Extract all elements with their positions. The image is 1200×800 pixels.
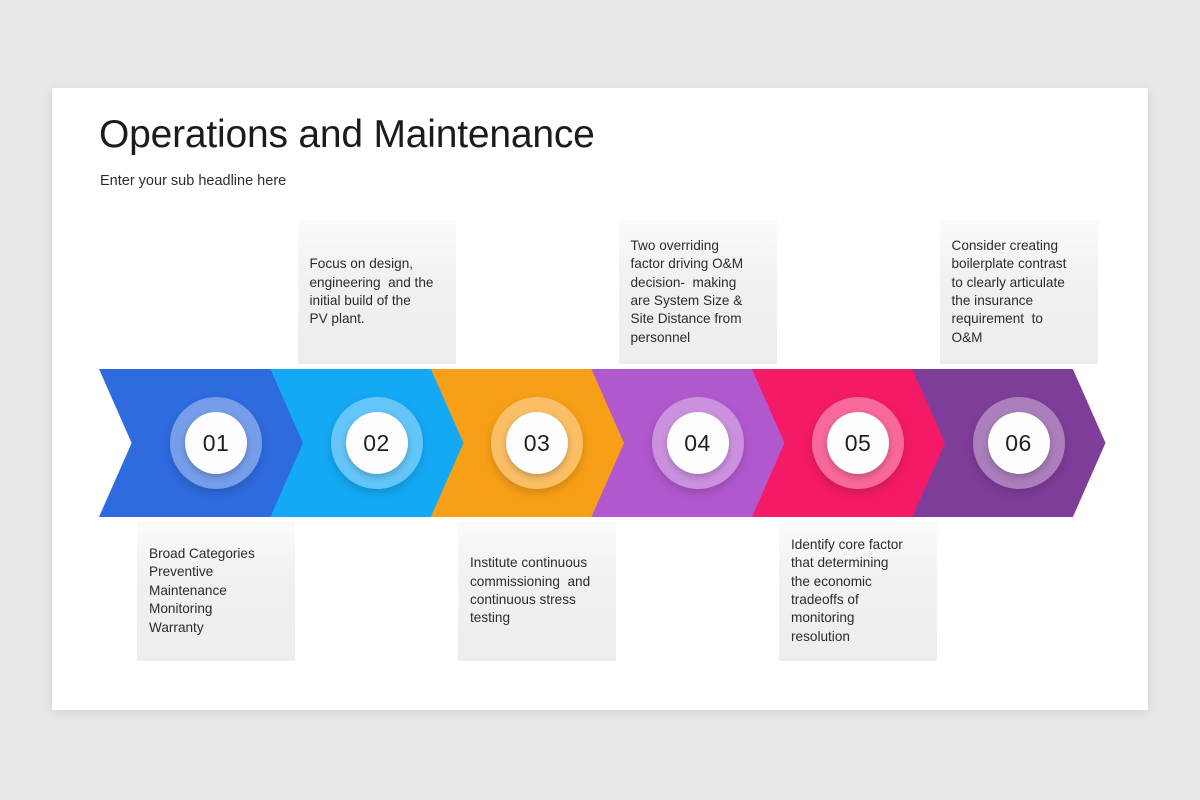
note-line: engineering and the bbox=[310, 274, 444, 292]
note-line: to clearly articulate bbox=[952, 274, 1086, 292]
step-number-badge-04[interactable]: 04 bbox=[652, 397, 744, 489]
note-line: Warranty bbox=[149, 619, 283, 637]
note-line: decision- making bbox=[631, 274, 765, 292]
note-line: testing bbox=[470, 609, 604, 627]
note-line: Identify core factor bbox=[791, 536, 925, 554]
step-number-badge-02[interactable]: 02 bbox=[331, 397, 423, 489]
note-line: Preventive bbox=[149, 563, 283, 581]
note-line: tradeoffs of bbox=[791, 591, 925, 609]
note-line: resolution bbox=[791, 628, 925, 646]
note-line: Focus on design, bbox=[310, 255, 444, 273]
step-note-01[interactable]: Broad CategoriesPreventiveMaintenanceMon… bbox=[137, 521, 295, 661]
step-note-03[interactable]: Institute continuouscommissioning andcon… bbox=[458, 521, 616, 661]
note-line: Institute continuous bbox=[470, 554, 604, 572]
process-chevron-band: 010203040506 bbox=[52, 369, 1148, 519]
note-line: initial build of the bbox=[310, 292, 444, 310]
note-line: requirement to bbox=[952, 310, 1086, 328]
step-note-02[interactable]: Focus on design,engineering and theiniti… bbox=[298, 220, 456, 364]
step-note-05[interactable]: Identify core factorthat determiningthe … bbox=[779, 521, 937, 661]
step-number-label: 01 bbox=[185, 412, 247, 474]
note-line: personnel bbox=[631, 329, 765, 347]
note-line: factor driving O&M bbox=[631, 255, 765, 273]
step-number-label: 05 bbox=[827, 412, 889, 474]
note-line: Monitoring bbox=[149, 600, 283, 618]
note-line: monitoring bbox=[791, 609, 925, 627]
note-line: commissioning and bbox=[470, 573, 604, 591]
note-line: Broad Categories bbox=[149, 545, 283, 563]
step-number-label: 06 bbox=[988, 412, 1050, 474]
note-line: continuous stress bbox=[470, 591, 604, 609]
step-note-04[interactable]: Two overridingfactor driving O&Mdecision… bbox=[619, 220, 777, 364]
step-number-badge-05[interactable]: 05 bbox=[812, 397, 904, 489]
page-subtitle: Enter your sub headline here bbox=[100, 173, 286, 189]
page-title: Operations and Maintenance bbox=[99, 113, 595, 157]
note-line: Consider creating bbox=[952, 237, 1086, 255]
note-line: Site Distance from bbox=[631, 310, 765, 328]
note-line: the economic bbox=[791, 573, 925, 591]
note-line: Maintenance bbox=[149, 582, 283, 600]
step-number-badge-01[interactable]: 01 bbox=[170, 397, 262, 489]
step-number-badge-03[interactable]: 03 bbox=[491, 397, 583, 489]
note-line: that determining bbox=[791, 554, 925, 572]
note-line: O&M bbox=[952, 329, 1086, 347]
step-number-label: 04 bbox=[667, 412, 729, 474]
step-number-label: 02 bbox=[346, 412, 408, 474]
step-note-06[interactable]: Consider creatingboilerplate contrastto … bbox=[940, 220, 1098, 364]
slide-panel: Operations and Maintenance Enter your su… bbox=[52, 88, 1148, 710]
note-line: Two overriding bbox=[631, 237, 765, 255]
step-number-badge-06[interactable]: 06 bbox=[973, 397, 1065, 489]
note-line: the insurance bbox=[952, 292, 1086, 310]
note-line: boilerplate contrast bbox=[952, 255, 1086, 273]
note-line: are System Size & bbox=[631, 292, 765, 310]
step-number-label: 03 bbox=[506, 412, 568, 474]
note-line: PV plant. bbox=[310, 310, 444, 328]
